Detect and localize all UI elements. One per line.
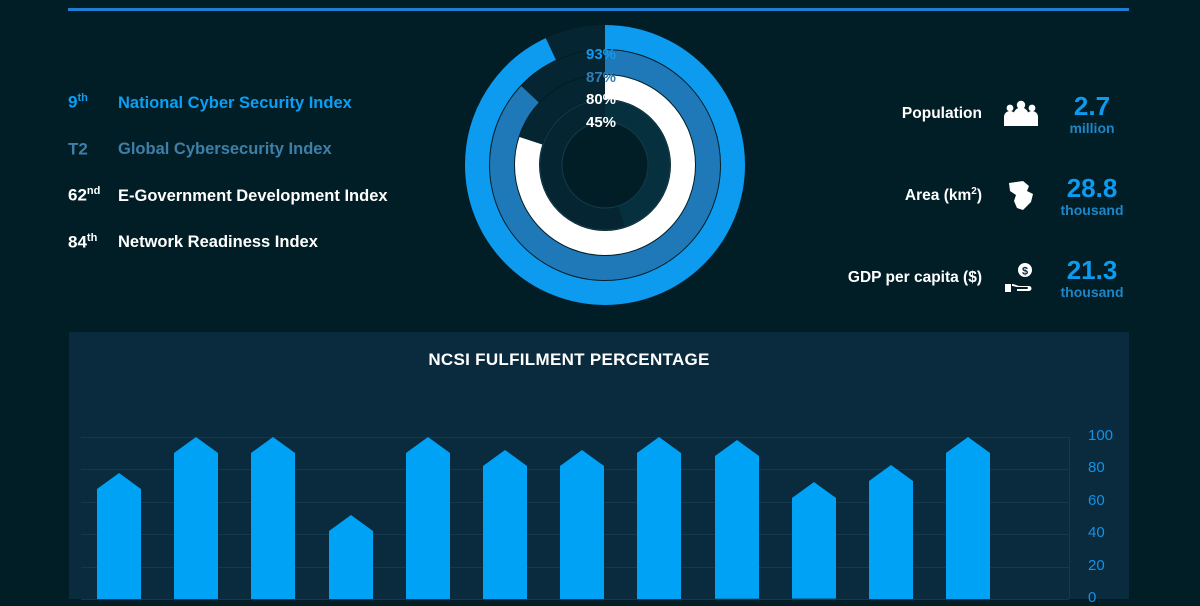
bar[interactable] [483, 450, 527, 599]
donut-chart: 93% 87% 80% 45% [462, 22, 748, 308]
chart-title: NCSI FULFILMENT PERCENTAGE [69, 350, 1069, 370]
rank-position: T2 [68, 133, 118, 162]
y-axis-tick: 80 [1088, 459, 1128, 476]
rank-position-suffix: nd [87, 185, 100, 197]
bar[interactable] [715, 440, 759, 599]
bar[interactable] [560, 450, 604, 599]
ranking-list: 9th National Cyber Security Index T2 Glo… [68, 86, 468, 272]
rank-position-suffix: th [87, 232, 97, 244]
rank-label: National Cyber Security Index [118, 91, 352, 115]
stat-label-text: Area (km [905, 188, 971, 205]
donut-label-93: 93% [586, 44, 648, 67]
rank-label: E-Government Development Index [118, 184, 388, 208]
rank-position: 9th [68, 86, 118, 115]
bar[interactable] [946, 437, 990, 599]
bar[interactable] [406, 437, 450, 599]
donut-label-80: 80% [586, 89, 648, 112]
list-item: T2 Global Cybersecurity Index [68, 133, 468, 157]
people-icon [998, 94, 1044, 134]
stat-label: GDP per capita ($) [790, 269, 998, 287]
stat-unit: million [1044, 121, 1140, 135]
bar[interactable] [97, 473, 141, 599]
donut-value-labels: 93% 87% 80% 45% [586, 44, 648, 134]
stat-row-population: Population 2.7 million [790, 86, 1140, 142]
stat-unit: thousand [1044, 203, 1140, 217]
bar[interactable] [329, 515, 373, 599]
rank-position: 62nd [68, 179, 118, 208]
map-icon [998, 176, 1044, 216]
stat-row-area: Area (km2) 28.8 thousand [790, 168, 1140, 224]
bar-plot-area [81, 437, 1069, 599]
stat-value: 2.7 [1044, 93, 1140, 119]
rank-position-number: 84 [68, 232, 87, 251]
stat-unit: thousand [1044, 285, 1140, 299]
bar[interactable] [869, 465, 913, 599]
rank-label: Network Readiness Index [118, 230, 318, 254]
stat-value: 28.8 [1044, 175, 1140, 201]
stat-label: Population [790, 105, 998, 123]
rank-position-number: 62 [68, 186, 87, 205]
rank-position-suffix: th [77, 92, 87, 104]
stat-value: 21.3 [1044, 257, 1140, 283]
stat-value-block: 28.8 thousand [1044, 175, 1140, 217]
y-axis-tick: 0 [1088, 589, 1128, 606]
y-axis-tick: 40 [1088, 524, 1128, 541]
bar[interactable] [792, 482, 836, 599]
stat-label: Area (km2) [790, 186, 998, 205]
rank-position: 84th [68, 226, 118, 255]
stat-label-tail: ) [977, 188, 982, 205]
stat-value-block: 21.3 thousand [1044, 257, 1140, 299]
ncsi-fulfilment-chart-panel: NCSI FULFILMENT PERCENTAGE 100806040200 [69, 332, 1129, 599]
top-divider [68, 8, 1129, 11]
svg-text:$: $ [1022, 266, 1028, 278]
list-item: 9th National Cyber Security Index [68, 86, 468, 110]
gridline [81, 599, 1069, 600]
bar[interactable] [251, 437, 295, 599]
money-hand-icon: $ [998, 258, 1044, 298]
y-axis-tick: 20 [1088, 557, 1128, 574]
rank-position-number: T2 [68, 139, 88, 158]
rank-label: Global Cybersecurity Index [118, 137, 332, 161]
stat-value-block: 2.7 million [1044, 93, 1140, 135]
gridline [81, 437, 1069, 438]
y-axis-line [1069, 437, 1070, 599]
donut-label-87: 87% [586, 67, 648, 90]
y-axis-tick: 100 [1088, 427, 1128, 444]
donut-hairline-inner [562, 122, 648, 208]
list-item: 84th Network Readiness Index [68, 226, 468, 250]
bar[interactable] [174, 437, 218, 599]
bar[interactable] [637, 437, 681, 599]
list-item: 62nd E-Government Development Index [68, 179, 468, 203]
stat-row-gdp: GDP per capita ($) $ 21.3 thousand [790, 250, 1140, 306]
country-stats: Population 2.7 million Area (km2) 28.8 t… [790, 86, 1140, 332]
y-axis-tick: 60 [1088, 492, 1128, 509]
donut-label-45: 45% [586, 112, 648, 135]
